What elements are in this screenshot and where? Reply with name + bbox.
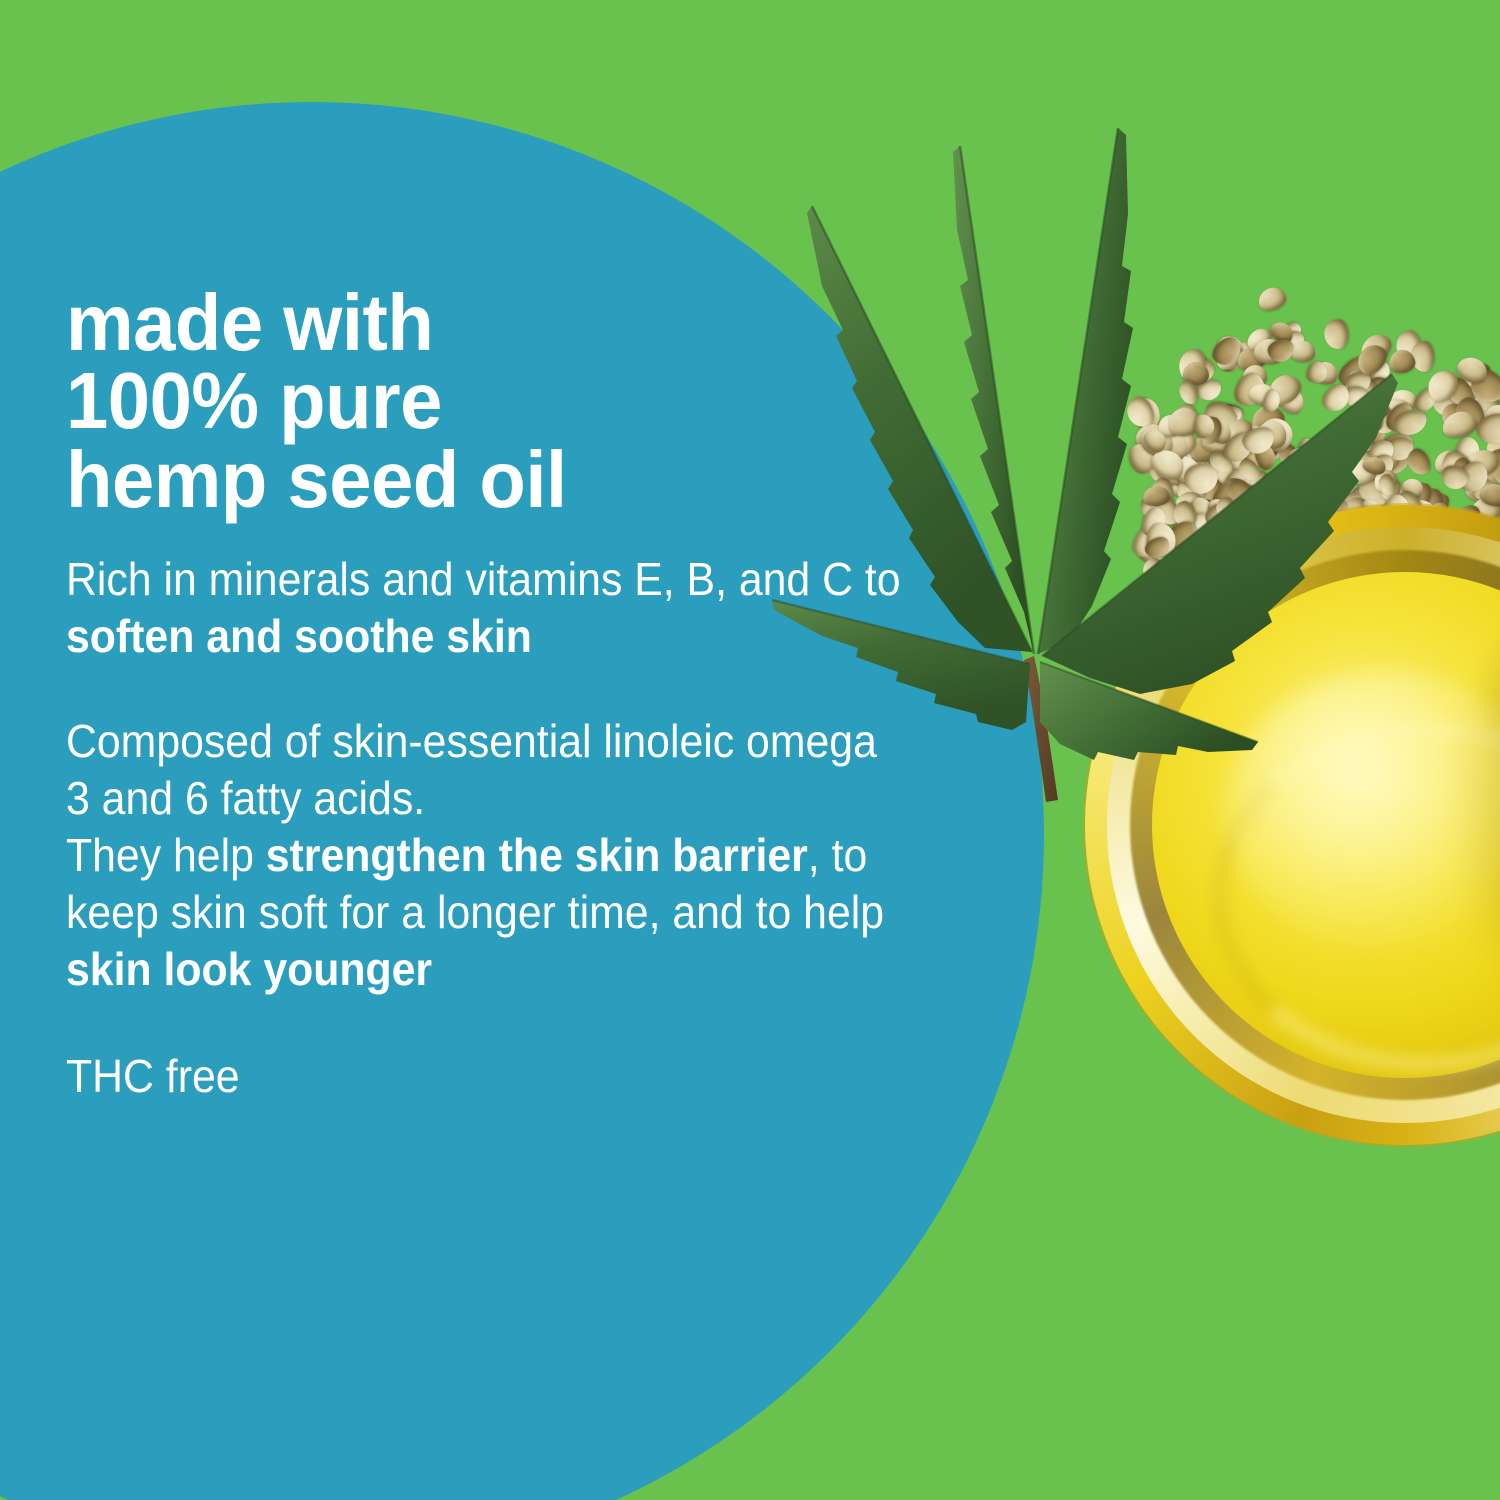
text-segment: Rich in minerals and vitamins E, B, and … bbox=[66, 553, 901, 605]
oil-bowl bbox=[1085, 505, 1500, 1145]
text-segment: skin look younger bbox=[66, 943, 432, 995]
text-segment: THC free bbox=[66, 1050, 240, 1102]
text-segment: soften and soothe skin bbox=[66, 610, 532, 662]
text-segment: strengthen the skin barrier bbox=[266, 829, 808, 881]
copy-block: made with 100% pure hemp seed oil Rich i… bbox=[66, 284, 966, 1105]
benefit-paragraph-thc: THC free bbox=[66, 1048, 903, 1105]
hemp-seed bbox=[1324, 318, 1349, 349]
benefit-paragraph-fatty-acids: Composed of skin-essential linoleic omeg… bbox=[66, 713, 903, 998]
benefit-paragraph-vitamins: Rich in minerals and vitamins E, B, and … bbox=[66, 551, 903, 665]
page-title: made with 100% pure hemp seed oil bbox=[66, 284, 921, 519]
hemp-seed-oil-infographic: made with 100% pure hemp seed oil Rich i… bbox=[0, 0, 1500, 1500]
